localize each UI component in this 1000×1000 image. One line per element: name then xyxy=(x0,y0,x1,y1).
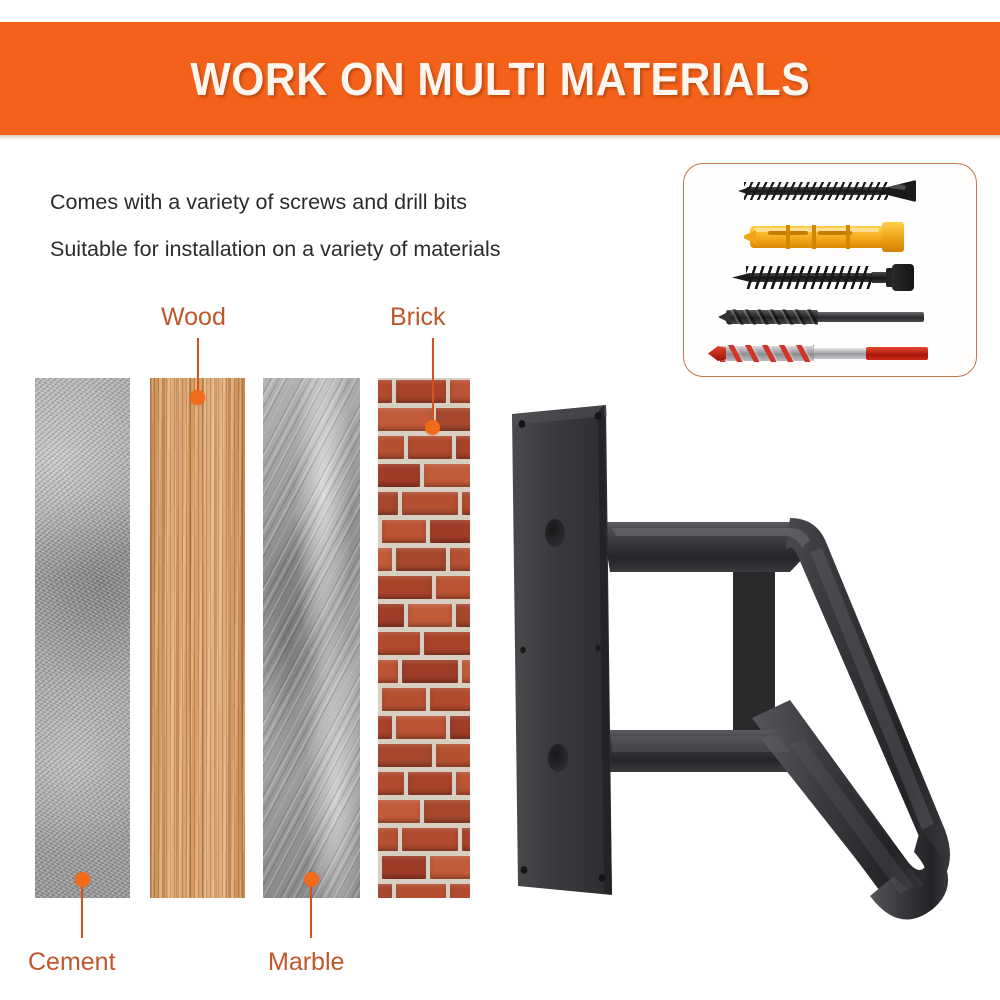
leader-line-wood xyxy=(197,338,199,396)
brick-unit xyxy=(396,548,446,571)
leader-dot-brick xyxy=(425,420,440,435)
brick-unit xyxy=(378,884,392,898)
brick-row xyxy=(378,602,470,630)
brick-unit xyxy=(450,884,470,898)
brick-unit xyxy=(430,856,470,879)
brick-unit xyxy=(396,884,446,898)
page-title: WORK ON MULTI MATERIALS xyxy=(190,56,810,102)
brick-unit xyxy=(378,632,420,655)
flat-head-screw-icon xyxy=(736,178,918,204)
leader-line-marble xyxy=(310,880,312,938)
brick-unit xyxy=(378,828,398,851)
product-marketing-image: WORK ON MULTI MATERIALS Comes with a var… xyxy=(0,0,1000,1000)
brick-row xyxy=(378,406,470,434)
brick-unit xyxy=(378,408,432,431)
material-label-cement: Cement xyxy=(28,948,116,977)
brick-unit xyxy=(450,380,470,403)
leader-dot-wood xyxy=(190,390,205,405)
brick-unit xyxy=(378,576,432,599)
brick-unit xyxy=(396,380,446,403)
brick-unit xyxy=(430,688,470,711)
brick-row xyxy=(378,826,470,854)
brick-unit xyxy=(408,436,452,459)
brick-row xyxy=(378,462,470,490)
feature-line-2: Suitable for installation on a variety o… xyxy=(50,237,501,262)
leader-dot-marble xyxy=(304,872,319,887)
brick-unit xyxy=(456,772,470,795)
handrail-tube xyxy=(602,518,950,920)
header-banner: WORK ON MULTI MATERIALS xyxy=(0,22,1000,135)
brick-row xyxy=(378,854,470,882)
material-swatch-brick xyxy=(378,378,470,898)
material-label-brick: Brick xyxy=(390,303,446,332)
brick-unit xyxy=(462,828,470,851)
brick-unit xyxy=(408,604,452,627)
brick-unit xyxy=(456,436,470,459)
product-image-handrail xyxy=(490,400,970,930)
masonry-drill-bit-icon xyxy=(706,342,932,364)
brick-unit xyxy=(462,492,470,515)
brick-unit xyxy=(378,436,404,459)
brick-unit xyxy=(378,800,420,823)
brick-unit xyxy=(378,744,432,767)
brick-unit xyxy=(436,744,470,767)
brick-unit xyxy=(378,660,398,683)
brick-unit xyxy=(402,492,458,515)
brick-row xyxy=(378,658,470,686)
brick-row xyxy=(378,798,470,826)
brick-row xyxy=(378,490,470,518)
brick-unit xyxy=(424,632,470,655)
brick-unit xyxy=(378,772,404,795)
brick-unit xyxy=(378,548,392,571)
brick-unit xyxy=(378,604,404,627)
brick-unit xyxy=(462,660,470,683)
material-label-wood: Wood xyxy=(161,303,226,332)
brick-unit xyxy=(382,688,426,711)
hex-lag-screw-icon xyxy=(726,262,922,292)
feature-line-1: Comes with a variety of screws and drill… xyxy=(50,190,467,215)
leader-line-brick xyxy=(432,338,434,426)
material-swatch-wood xyxy=(150,378,245,898)
brick-row xyxy=(378,770,470,798)
brick-unit xyxy=(436,576,470,599)
material-label-marble: Marble xyxy=(268,948,344,977)
brick-unit xyxy=(450,548,470,571)
brick-row xyxy=(378,686,470,714)
leader-line-cement xyxy=(81,880,83,938)
brick-unit xyxy=(382,520,426,543)
brick-unit xyxy=(436,408,470,431)
brick-unit xyxy=(396,716,446,739)
brick-unit xyxy=(430,520,470,543)
handrail-svg xyxy=(490,400,970,930)
banner-shadow xyxy=(0,135,1000,140)
brick-row xyxy=(378,882,470,898)
brick-unit xyxy=(402,828,458,851)
brick-unit xyxy=(450,716,470,739)
material-swatch-cement xyxy=(35,378,130,898)
brick-unit xyxy=(378,492,398,515)
brick-row xyxy=(378,630,470,658)
brick-unit xyxy=(456,604,470,627)
brick-unit xyxy=(402,660,458,683)
brick-unit xyxy=(378,380,392,403)
brick-unit xyxy=(424,800,470,823)
brick-row xyxy=(378,574,470,602)
twist-drill-bit-icon xyxy=(716,306,928,326)
wall-anchor-plug-icon xyxy=(742,220,912,254)
leader-dot-cement xyxy=(75,872,90,887)
brick-unit xyxy=(408,772,452,795)
brick-unit xyxy=(424,464,470,487)
brick-row xyxy=(378,518,470,546)
hardware-kit-box xyxy=(683,163,977,377)
brick-unit xyxy=(378,464,420,487)
brick-row xyxy=(378,434,470,462)
brick-unit xyxy=(382,856,426,879)
brick-row xyxy=(378,714,470,742)
brick-row xyxy=(378,742,470,770)
brick-row xyxy=(378,378,470,406)
material-swatch-marble xyxy=(263,378,360,898)
brick-row xyxy=(378,546,470,574)
brick-unit xyxy=(378,716,392,739)
